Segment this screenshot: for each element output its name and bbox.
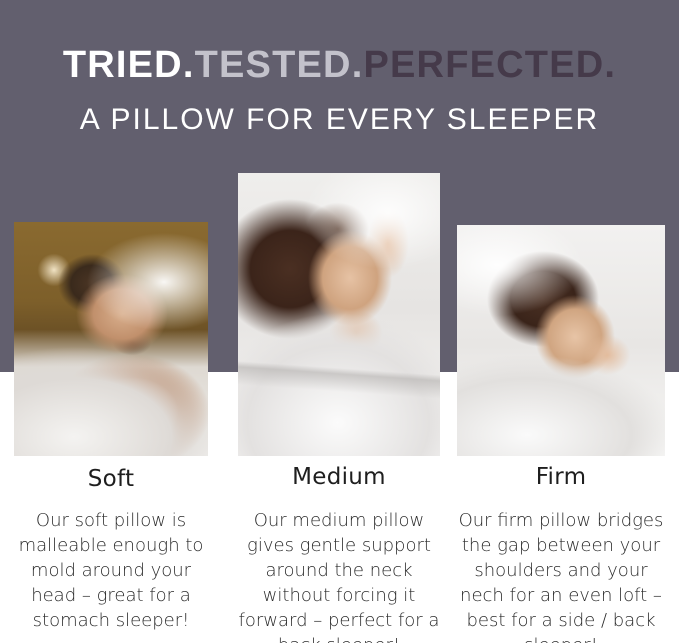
photo-card-firm [457,225,665,456]
column-label-firm: Firm [457,464,665,490]
infographic-root: TRIED.TESTED.PERFECTED. A PILLOW FOR EVE… [0,0,679,643]
headline-part-tested: TESTED. [195,44,364,86]
headline-part-tried: TRIED. [63,44,195,86]
photo-card-medium [238,173,440,456]
column-description-firm: Our firm pillow bridges the gap between … [452,508,670,643]
photo-soft-sleeper [14,222,208,456]
photo-medium-sleeper [238,173,440,456]
headline: TRIED.TESTED.PERFECTED. [0,44,679,86]
column-label-medium: Medium [238,464,440,490]
column-description-medium: Our medium pillow gives gentle support a… [232,508,446,643]
photo-firm-sleeper [457,225,665,456]
photo-card-soft [14,222,208,456]
column-description-soft: Our soft pillow is malleable enough to m… [10,508,212,633]
column-label-soft: Soft [14,466,208,492]
subheadline: A PILLOW FOR EVERY SLEEPER [0,103,679,137]
headline-part-perfected: PERFECTED. [363,44,616,86]
